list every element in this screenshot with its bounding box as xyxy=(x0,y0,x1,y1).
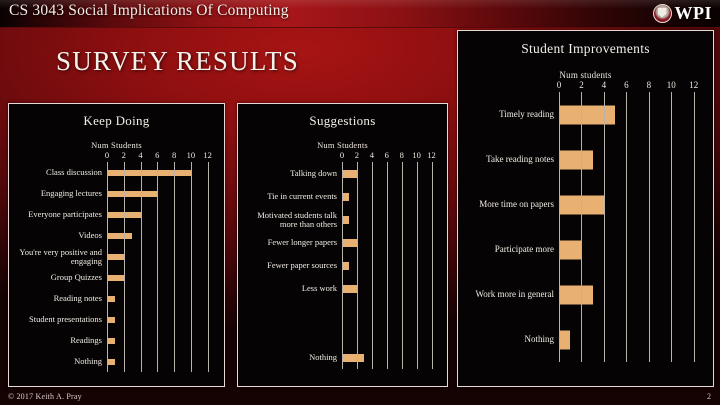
chart-bar xyxy=(107,254,124,260)
x-axis-tick-label: 10 xyxy=(667,80,676,90)
x-axis-tick-label: 4 xyxy=(138,150,142,160)
chart-row: Take reading notes xyxy=(458,137,713,182)
chart-bar xyxy=(107,359,115,365)
x-axis-tick-label: 6 xyxy=(155,150,159,160)
x-axis-tick-label: 8 xyxy=(400,150,404,160)
chart-category-label: Tie in current events xyxy=(238,192,342,201)
chart-bar xyxy=(559,285,593,304)
x-axis-tick-label: 0 xyxy=(557,80,562,90)
chart-category-label: Readings xyxy=(9,336,107,345)
chart-bar-track xyxy=(342,231,439,254)
chart-title-student-improvements: Student Improvements xyxy=(458,41,713,57)
chart-bar xyxy=(342,285,357,293)
chart-bar xyxy=(107,338,115,344)
chart-bar xyxy=(559,150,593,169)
chart-row: Everyone participates xyxy=(9,204,224,225)
chart-bar-track xyxy=(342,300,439,323)
chart-row: Class discussion xyxy=(9,162,224,183)
chart-rows: Class discussionEngaging lecturesEveryon… xyxy=(9,162,224,372)
chart-bar-track xyxy=(342,185,439,208)
chart-category-label: More time on papers xyxy=(458,200,559,209)
chart-bar-track xyxy=(559,227,705,272)
chart-category-label: Timely reading xyxy=(458,110,559,119)
chart-axis-title-student-improvements: Num students xyxy=(458,70,713,80)
slide-canvas: CS 3043 Social Implications Of Computing… xyxy=(0,0,720,405)
x-axis-tick-label: 12 xyxy=(203,150,212,160)
wpi-logo: WPI xyxy=(653,2,713,24)
course-title: CS 3043 Social Implications Of Computing xyxy=(9,2,289,20)
chart-bar-track xyxy=(107,183,216,204)
chart-row: Nothing xyxy=(238,346,447,369)
chart-category-label: Videos xyxy=(9,231,107,240)
chart-row: Fewer longer papers xyxy=(238,231,447,254)
chart-category-label: Participate more xyxy=(458,245,559,254)
x-axis-tick-label: 2 xyxy=(122,150,126,160)
page-number: 2 xyxy=(707,392,711,401)
x-axis-tick-label: 4 xyxy=(602,80,607,90)
chart-bar-track xyxy=(107,288,216,309)
chart-row: Readings xyxy=(9,330,224,351)
x-axis-tick-label: 6 xyxy=(624,80,629,90)
chart-bar xyxy=(107,317,115,323)
chart-bar xyxy=(342,354,364,362)
chart-category-label: Class discussion xyxy=(9,168,107,177)
chart-bar-track xyxy=(107,162,216,183)
x-axis-tick-label: 10 xyxy=(187,150,196,160)
wpi-seal-icon xyxy=(653,4,672,23)
chart-category-label: Fewer longer papers xyxy=(238,238,342,247)
x-axis-tick-labels: 024681012 xyxy=(107,150,216,162)
chart-bar xyxy=(559,195,604,214)
chart-category-label: Student presentations xyxy=(9,315,107,324)
chart-panel-keep-doing: Keep Doing Num Students 024681012Class d… xyxy=(8,103,225,387)
plot-area-student-improvements: 024681012Timely readingTake reading note… xyxy=(458,80,713,362)
chart-bar-track xyxy=(559,272,705,317)
chart-row: Motivated students talk more than others xyxy=(238,208,447,231)
chart-category-label: Nothing xyxy=(458,335,559,344)
chart-bar xyxy=(107,233,132,239)
chart-category-label: Take reading notes xyxy=(458,155,559,164)
chart-row: Less work xyxy=(238,277,447,300)
chart-category-label: Everyone participates xyxy=(9,210,107,219)
chart-row xyxy=(238,300,447,323)
slide-header-bar: CS 3043 Social Implications Of Computing… xyxy=(0,0,720,28)
chart-panel-student-improvements: Student Improvements Num students 024681… xyxy=(457,30,714,387)
chart-bar xyxy=(559,330,570,349)
chart-row: Timely reading xyxy=(458,92,713,137)
chart-row xyxy=(238,323,447,346)
x-axis-tick-label: 8 xyxy=(172,150,176,160)
chart-bar xyxy=(107,275,124,281)
chart-title-suggestions: Suggestions xyxy=(238,113,447,129)
chart-bar xyxy=(342,262,349,270)
chart-category-label: Fewer paper sources xyxy=(238,261,342,270)
chart-row: Videos xyxy=(9,225,224,246)
chart-category-label: Nothing xyxy=(238,353,342,362)
chart-axis-title-keep-doing: Num Students xyxy=(9,140,224,150)
x-axis-tick-label: 12 xyxy=(689,80,698,90)
chart-bar xyxy=(107,191,157,197)
chart-title-keep-doing: Keep Doing xyxy=(9,113,224,129)
chart-axis-title-suggestions: Num Students xyxy=(238,140,447,150)
chart-bar-track xyxy=(342,346,439,369)
chart-row: Nothing xyxy=(9,351,224,372)
chart-bar-track xyxy=(342,254,439,277)
x-axis-tick-label: 12 xyxy=(427,150,436,160)
chart-bar-track xyxy=(107,204,216,225)
page-title: SURVEY RESULTS xyxy=(56,46,299,77)
chart-category-label: Less work xyxy=(238,284,342,293)
x-axis-tick-labels: 024681012 xyxy=(559,80,705,92)
chart-category-label: Engaging lectures xyxy=(9,189,107,198)
chart-row: Engaging lectures xyxy=(9,183,224,204)
chart-category-label: Group Quizzes xyxy=(9,273,107,282)
chart-bar-track xyxy=(107,309,216,330)
chart-category-label: Talking down xyxy=(238,169,342,178)
copyright-notice: © 2017 Keith A. Pray xyxy=(8,392,82,401)
chart-row: Participate more xyxy=(458,227,713,272)
chart-row: Tie in current events xyxy=(238,185,447,208)
chart-panel-suggestions: Suggestions Num Students 024681012Talkin… xyxy=(237,103,448,387)
chart-bar xyxy=(559,105,615,124)
plot-area-suggestions: 024681012Talking downTie in current even… xyxy=(238,150,447,369)
chart-category-label: Nothing xyxy=(9,357,107,366)
chart-category-label: Motivated students talk more than others xyxy=(238,211,342,228)
chart-bar-track xyxy=(559,317,705,362)
chart-bar-track xyxy=(107,246,216,267)
chart-bar xyxy=(342,239,357,247)
chart-category-label: Work more in general xyxy=(458,290,559,299)
x-axis-tick-labels: 024681012 xyxy=(342,150,439,162)
chart-bar xyxy=(342,170,357,178)
chart-row: Group Quizzes xyxy=(9,267,224,288)
chart-bar xyxy=(342,216,349,224)
chart-bar xyxy=(107,170,191,176)
chart-bar-track xyxy=(342,162,439,185)
x-axis-tick-label: 6 xyxy=(385,150,389,160)
chart-row: Nothing xyxy=(458,317,713,362)
chart-category-label: Reading notes xyxy=(9,294,107,303)
chart-bar-track xyxy=(559,182,705,227)
chart-row: Work more in general xyxy=(458,272,713,317)
x-axis-tick-label: 0 xyxy=(340,150,344,160)
chart-bar-track xyxy=(559,92,705,137)
chart-bar xyxy=(342,193,349,201)
chart-bar-track xyxy=(107,330,216,351)
chart-bar-track xyxy=(107,225,216,246)
chart-row: Fewer paper sources xyxy=(238,254,447,277)
chart-bar xyxy=(107,296,115,302)
chart-bar-track xyxy=(342,323,439,346)
chart-rows: Talking downTie in current eventsMotivat… xyxy=(238,162,447,369)
chart-bar-track xyxy=(342,277,439,300)
chart-row: You're very positive and engaging xyxy=(9,246,224,267)
x-axis-tick-label: 2 xyxy=(355,150,359,160)
chart-bar-track xyxy=(342,208,439,231)
chart-rows: Timely readingTake reading notesMore tim… xyxy=(458,92,713,362)
wpi-logo-text: WPI xyxy=(675,4,713,22)
x-axis-tick-label: 10 xyxy=(412,150,421,160)
x-axis-tick-label: 4 xyxy=(370,150,374,160)
x-axis-tick-label: 8 xyxy=(647,80,652,90)
plot-area-keep-doing: 024681012Class discussionEngaging lectur… xyxy=(9,150,224,372)
x-axis-tick-label: 2 xyxy=(579,80,584,90)
chart-row: More time on papers xyxy=(458,182,713,227)
chart-row: Reading notes xyxy=(9,288,224,309)
chart-bar-track xyxy=(107,267,216,288)
chart-row: Talking down xyxy=(238,162,447,185)
chart-bar xyxy=(107,212,141,218)
chart-bar-track xyxy=(107,351,216,372)
x-axis-tick-label: 0 xyxy=(105,150,109,160)
chart-bar-track xyxy=(559,137,705,182)
chart-bar xyxy=(559,240,581,259)
chart-category-label: You're very positive and engaging xyxy=(9,248,107,265)
chart-row: Student presentations xyxy=(9,309,224,330)
